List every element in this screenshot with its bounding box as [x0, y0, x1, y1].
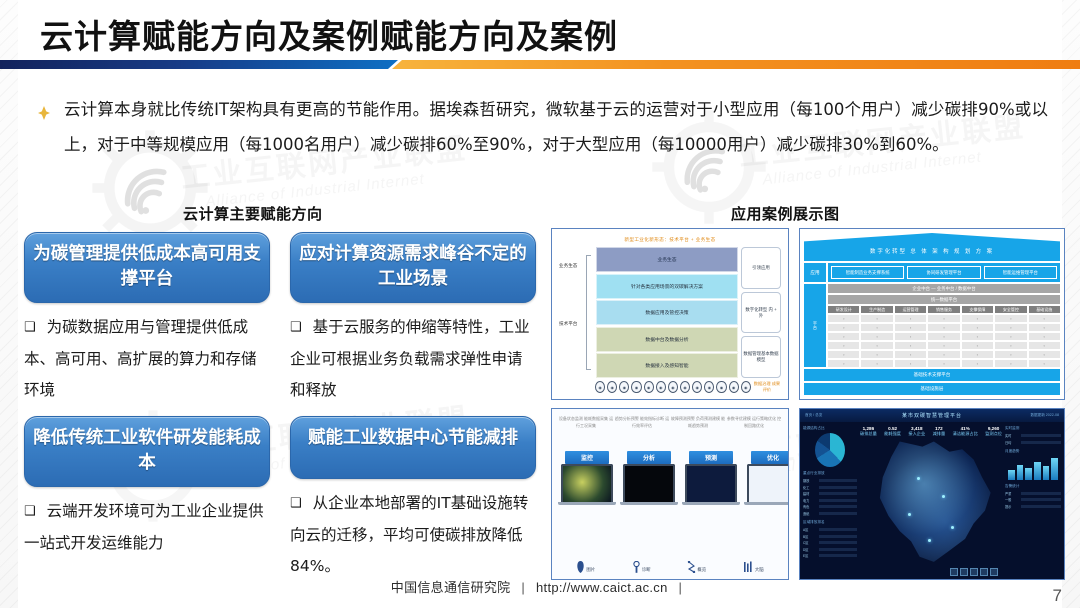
bar-label: 有色 [803, 504, 817, 509]
feature-title-box-1[interactable]: 为碳管理提供低成本高可用支撑平台 [24, 232, 270, 303]
bar-label: 严重 [1005, 491, 1019, 496]
kpi-label: 清洁能源占比 [953, 431, 978, 436]
laptop-base [558, 502, 616, 505]
kpi-item: 3,418 接入企业 [908, 426, 925, 436]
map-pin-icon [942, 495, 945, 498]
arch-node-icon: ◉ [656, 381, 666, 393]
bar-row: 实时 [1005, 433, 1061, 438]
bar-label: 提示 [1005, 504, 1019, 509]
laptop-base [682, 502, 740, 505]
laptop-note: 参数寻优建模 运行策略优化 控制回路优化 [726, 415, 782, 449]
footer-separator-1: | [521, 580, 525, 595]
bar-track [1021, 492, 1061, 495]
matrix-app: 协同研发管理平台 [907, 266, 980, 279]
bar-label: 一般 [1005, 497, 1019, 502]
matrix-core: 企业中台 — 业务中台 / 数据中台 统一数据平台 研发设计 生产制造 运营管理… [828, 284, 1060, 367]
panel-energy-mix: 能源结构占比 [803, 426, 857, 467]
map-region-shape [860, 439, 1002, 567]
laptop-screen [685, 464, 737, 502]
matrix-grid-cell: ▫ [828, 333, 859, 340]
feature-bullet-text-3: 云端开发环境可为工业企业提供一站式开发运维能力 [24, 502, 264, 552]
bar-row: 钢铁 [803, 478, 857, 483]
dashboard-tab[interactable] [960, 568, 968, 576]
dashboard-tab[interactable] [950, 568, 958, 576]
laptop-note: 趋势分析预警 能效指标诊断 运行效率评估 [614, 415, 670, 449]
dashboard-tab[interactable] [980, 568, 988, 576]
thumbnail-architecture-layers[interactable]: 新型工业化新形态：技术平台 + 业务生态 业务生态 技术平台 业务生态 针对各类… [551, 228, 789, 400]
matrix-core-row: 平台 企业中台 — 业务中台 / 数据中台 统一数据平台 研发设计 生产制造 运… [804, 284, 1060, 367]
feature-bullet-text-1: 为碳数据应用与管理提供低成本、高可用、高扩展的算力和存储环境 [24, 318, 257, 399]
map-pin-icon [917, 477, 920, 480]
square-bullet-icon-2: ❑ [290, 320, 302, 335]
laptop-base [620, 502, 678, 505]
bar-track [819, 499, 857, 502]
panel-industry-emissions: 重点行业排放 钢铁 化工 建材 电力 有色 造纸 [803, 471, 857, 516]
feature-bullet-3: ❑云端开发环境可为工业企业提供一站式开发运维能力 [24, 496, 270, 559]
kpi-item: 1,286 碳排总量 [860, 426, 877, 436]
laptop-base [744, 502, 789, 505]
laptop-note: 设备状态监测 能耗数据采集 运行工况采集 [558, 415, 614, 449]
feature-bullet-text-4: 从企业本地部署的IT基础设施转向云的迁移，平均可使碳排放降低84%。 [290, 494, 528, 575]
arch-axis-bottom: 技术平台 [559, 321, 577, 327]
arch-layer: 针对各类应用场景的双碳解决方案 [596, 274, 738, 299]
arch-layer: 数据接入及感知智能 [596, 353, 738, 378]
laptop-label: 分析 [627, 451, 671, 464]
dashboard-bottom-tabs[interactable] [950, 568, 998, 576]
arch-node-icon: ◉ [631, 381, 641, 393]
thumbnail-transformation-matrix[interactable]: 数字化转型 总 体 架 构 规 划 方 案 应用 智能制造业务支撑系统 协同研发… [799, 228, 1065, 400]
panel-region-rank: 区域排放排名 A区 B区 C区 D区 E区 [803, 520, 857, 558]
bar-track [819, 554, 857, 557]
bar-label: B区 [803, 534, 817, 539]
arch-node-icon: ◉ [595, 381, 605, 393]
case-thumbnail-grid: 新型工业化新形态：技术平台 + 业务生态 业务生态 技术平台 业务生态 针对各类… [551, 228, 1065, 580]
matrix-side-label: 平台 [804, 284, 826, 367]
intro-paragraph-block: 云计算本身就比传统IT架构具有更高的节能作用。据埃森哲研究，微软基于云的运营对于… [38, 92, 1048, 162]
bar-label: 实时 [1005, 433, 1019, 438]
dashboard-tab[interactable] [990, 568, 998, 576]
kpi-item: 172 减排量 [933, 426, 946, 436]
kpi-label: 接入企业 [908, 431, 925, 436]
arch-layer: 数据应用及管控决策 [596, 300, 738, 325]
title-underline-blue-segment [0, 60, 398, 69]
bar-track [819, 535, 857, 538]
bar-row: 提示 [1005, 504, 1061, 509]
icon-label: 大脑 [755, 567, 764, 573]
footer-url[interactable]: http://www.caict.ac.cn [536, 580, 668, 595]
panel-monthly-trend: 月度趋势 [1005, 449, 1061, 480]
laptop-item: 预测 [682, 451, 740, 505]
chart-bar [1043, 466, 1050, 479]
laptop-top-notes: 设备状态监测 能耗数据采集 运行工况采集 趋势分析预警 能效指标诊断 运行效率评… [558, 415, 782, 449]
arch-side-box: 数字化转型 内 + 外 [741, 292, 781, 334]
matrix-grid-cell: ▫ [895, 315, 926, 322]
dashboard-header: 首页 / 总览 某市双碳智慧管理平台 数据更新 2022-08 [800, 409, 1064, 422]
page-number: 7 [1053, 586, 1062, 606]
matrix-grid-cell: ▫ [1029, 324, 1060, 331]
matrix-grid-cell: ▫ [828, 342, 859, 349]
matrix-grid-cell: ▫ [1029, 315, 1060, 322]
matrix-app-row: 应用 智能制造业务支撑系统 协同研发管理平台 智能运维管理平台 [804, 263, 1060, 282]
laptop-screen [623, 464, 675, 502]
bar-track [819, 541, 857, 544]
bar-track [1021, 505, 1061, 508]
thumbnail-map-dashboard[interactable]: 首页 / 总览 某市双碳智慧管理平台 数据更新 2022-08 1,286 碳排… [799, 408, 1065, 580]
matrix-grid-header: 运营管理 [895, 306, 926, 313]
page-title: 云计算赋能方向及案例赋能方向及案例 [40, 10, 618, 58]
arch-node-icon: ◉ [668, 381, 678, 393]
bar-row: 严重 [1005, 491, 1061, 496]
arch-side-box: 数据管理基本数据模型 [741, 336, 781, 378]
feature-cell-4: 赋能工业数据中心节能减排 ❑从企业本地部署的IT基础设施转向云的迁移，平均可使碳… [290, 416, 536, 592]
matrix-grid-header: 生产制造 [861, 306, 892, 313]
matrix-grid-cell: ▫ [861, 351, 892, 358]
matrix-grid-cell: ▫ [828, 360, 859, 367]
enablement-feature-grid: 为碳管理提供低成本高可用支撑平台 ❑为碳数据应用与管理提供低成本、高可用、高扩展… [24, 232, 536, 592]
overview-icon-group: 概览 [687, 561, 706, 573]
matrix-grid-cell: ▫ [928, 351, 959, 358]
matrix-grid-cell: ▫ [861, 342, 892, 349]
kpi-item: 0.52 能耗强度 [884, 426, 901, 436]
matrix-grid-cell: ▫ [828, 324, 859, 331]
bar-track [1021, 434, 1061, 437]
icon-label: 概览 [697, 567, 706, 573]
diamond-bullet-icon [38, 106, 50, 118]
monthly-bar-chart [1005, 456, 1061, 480]
kpi-label: 监测点位 [985, 431, 1002, 436]
matrix-grid-cell: ▫ [895, 360, 926, 367]
matrix-grid-header: 研发设计 [828, 306, 859, 313]
matrix-roof: 数字化转型 总 体 架 构 规 划 方 案 [804, 233, 1060, 261]
panel-header: 区域排放排名 [803, 520, 857, 525]
panel-alarm-stats: 告警统计 严重 一般 提示 [1005, 484, 1061, 509]
matrix-grid-cell: ▫ [828, 351, 859, 358]
intro-paragraph-text: 云计算本身就比传统IT架构具有更高的节能作用。据埃森哲研究，微软基于云的运营对于… [64, 92, 1048, 162]
feature-title-box-4[interactable]: 赋能工业数据中心节能减排 [290, 416, 536, 479]
brain-icon-group: 大脑 [743, 561, 764, 573]
laptop-screen [561, 464, 613, 502]
matrix-app: 智能制造业务支撑系统 [831, 266, 904, 279]
chart-bar [1025, 468, 1032, 480]
arch-node-icon: ◉ [692, 381, 702, 393]
laptop-item: 监控 [558, 451, 616, 505]
matrix-app: 智能运维管理平台 [984, 266, 1057, 279]
chart-bar [1017, 465, 1024, 480]
arch-node-icon: ◉ [704, 381, 714, 393]
matrix-grid-cell: ▫ [928, 333, 959, 340]
bar-row: 化工 [803, 485, 857, 490]
panel-header: 实时监测 [1005, 426, 1061, 431]
arch-node-icon: ◉ [644, 381, 654, 393]
bar-track [819, 486, 857, 489]
arch-layer: 数据中台及数据分析 [596, 327, 738, 352]
matrix-grid-cell: ▫ [928, 315, 959, 322]
kpi-label: 减排量 [933, 431, 946, 436]
matrix-grid-cell: ▫ [1029, 333, 1060, 340]
square-bullet-icon-3: ❑ [24, 504, 36, 519]
arch-side-box: 引领应用 [741, 247, 781, 289]
bar-track [819, 548, 857, 551]
matrix-row-label: 应用 [804, 263, 826, 282]
bar-track [819, 528, 857, 531]
slide-canvas: 工业互联网产业联盟 Alliance of Industrial Interne… [0, 0, 1080, 608]
matrix-grid-cell: ▫ [895, 351, 926, 358]
footer-org: 中国信息通信研究院 [391, 580, 511, 595]
feature-title-box-3[interactable]: 降低传统工业软件研发能耗成本 [24, 416, 270, 487]
bar-label: E区 [803, 553, 817, 558]
bar-row: 有色 [803, 504, 857, 509]
laptop-label: 监控 [565, 451, 609, 464]
matrix-grid-cell: ▫ [828, 315, 859, 322]
bar-label: 化工 [803, 485, 817, 490]
laptop-label: 预测 [689, 451, 733, 464]
bar-label: 电力 [803, 498, 817, 503]
title-underline-bar [0, 60, 1080, 69]
dashboard-title: 某市双碳智慧管理平台 [902, 412, 962, 419]
map-pin-icon [908, 513, 911, 516]
square-bullet-icon-1: ❑ [24, 320, 36, 335]
arch-node-icon: ◉ [741, 381, 751, 393]
icon-label: 图片 [586, 567, 595, 573]
matrix-grid-cell: ▫ [895, 342, 926, 349]
bar-row: 建材 [803, 491, 857, 496]
laptop-item: 分析 [620, 451, 678, 505]
matrix-grid-cell: ▫ [995, 360, 1026, 367]
bar-row: C区 [803, 540, 857, 545]
feature-bullet-2: ❑基于云服务的伸缩等特性，工业企业可根据业务负载需求弹性申请和释放 [290, 312, 536, 406]
laptop-screen [747, 464, 789, 502]
kpi-label: 碳排总量 [860, 431, 877, 436]
matrix-grid-cell: ▫ [1029, 360, 1060, 367]
panel-header: 重点行业排放 [803, 471, 857, 476]
arch-axis-top: 业务生态 [559, 263, 577, 269]
matrix-grid-header: 销售服务 [928, 306, 959, 313]
panel-header: 告警统计 [1005, 484, 1061, 489]
map-pin-icon [928, 539, 931, 542]
bar-track [819, 492, 857, 495]
feature-cell-1: 为碳管理提供低成本高可用支撑平台 ❑为碳数据应用与管理提供低成本、高可用、高扩展… [24, 232, 270, 416]
right-section-heading: 应用案例展示图 [731, 203, 840, 224]
matrix-grid-cell: ▫ [928, 324, 959, 331]
feature-title-box-2[interactable]: 应对计算资源需求峰谷不定的工业场景 [290, 232, 536, 303]
arch-footer-icons: ◉ ◉ ◉ ◉ ◉ ◉ ◉ ◉ ◉ ◉ ◉ ◉ ◉ 数据治理 成果评价 [559, 381, 781, 393]
bar-row: E区 [803, 553, 857, 558]
bar-label: 建材 [803, 491, 817, 496]
kpi-item: 41% 清洁能源占比 [953, 426, 978, 436]
footer-separator-2: | [679, 580, 683, 595]
dashboard-header-left: 首页 / 总览 [805, 413, 822, 418]
matrix-grid-cell: ▫ [1029, 351, 1060, 358]
bar-track [819, 479, 857, 482]
matrix-grid-cell: ▫ [895, 333, 926, 340]
matrix-base-bar: 基础设施层 [804, 383, 1060, 395]
matrix-grid-header: 基础设施 [1029, 306, 1060, 313]
dashboard-left-panel: 能源结构占比 重点行业排放 钢铁 化工 建材 电力 有色 造纸 区域排放排名 A… [803, 426, 857, 575]
matrix-grid-header: 支撑保障 [962, 306, 993, 313]
icon-label: 诊断 [642, 567, 651, 573]
kpi-label: 能耗强度 [884, 431, 901, 436]
laptop-row: 监控 分析 预测 优化 [558, 451, 782, 505]
chart-bar [1051, 458, 1058, 479]
square-bullet-icon-4: ❑ [290, 496, 302, 511]
matrix-grid-cell: ▫ [861, 333, 892, 340]
panel-header: 能源结构占比 [803, 426, 857, 431]
matrix-grid-cell: ▫ [995, 315, 1026, 322]
chart-bar [1034, 462, 1041, 480]
matrix-grid-cell: ▫ [995, 333, 1026, 340]
matrix-grid-cell: ▫ [962, 342, 993, 349]
dashboard-tab[interactable] [970, 568, 978, 576]
bar-row: D区 [803, 547, 857, 552]
bar-label: D区 [803, 547, 817, 552]
feature-cell-2: 应对计算资源需求峰谷不定的工业场景 ❑基于云服务的伸缩等特性，工业企业可根据业务… [290, 232, 536, 416]
matrix-grid-cell: ▫ [962, 315, 993, 322]
bar-track [819, 512, 857, 515]
bar-row: A区 [803, 527, 857, 532]
footer: 中国信息通信研究院 | http://www.caict.ac.cn | [0, 577, 1080, 596]
dashboard-right-panel: 实时监测 实时 日均 月度趋势 告警统计 [1005, 426, 1061, 575]
arch-brace [586, 255, 591, 370]
bar-row: 造纸 [803, 511, 857, 516]
arch-axis-labels: 业务生态 技术平台 [559, 247, 593, 378]
matrix-grid-cell: ▫ [962, 333, 993, 340]
matrix-gray-bar: 企业中台 — 业务中台 / 数据中台 [828, 284, 1060, 293]
bar-row: 日均 [1005, 440, 1061, 445]
bar-label: 日均 [1005, 440, 1019, 445]
diagnose-icon-group: 诊断 [632, 561, 651, 573]
panel-header: 月度趋势 [1005, 449, 1061, 454]
matrix-roof-text: 数字化转型 总 体 架 构 规 划 方 案 [804, 247, 1060, 255]
photo-icon-group: 图片 [576, 561, 595, 573]
matrix-grid-cell: ▫ [928, 342, 959, 349]
bar-track [1021, 441, 1061, 444]
dashboard-kpi-row: 1,286 碳排总量 0.52 能耗强度 3,418 接入企业 172 减排量 … [860, 424, 1002, 438]
feature-bullet-text-2: 基于云服务的伸缩等特性，工业企业可根据业务负载需求弹性申请和释放 [290, 318, 530, 399]
arch-footer-tag: 数据治理 成果评价 [753, 381, 781, 393]
matrix-bottom-bar: 基础技术支撑平台 [804, 369, 1060, 381]
matrix-gray-bar: 统一数据平台 [828, 295, 1060, 304]
matrix-grid-cell: ▫ [962, 351, 993, 358]
arch-node-icon: ◉ [607, 381, 617, 393]
matrix-capability-grid: 研发设计 生产制造 运营管理 销售服务 支撑保障 安全管控 基础设施 ▫ ▫ ▫… [828, 306, 1060, 367]
matrix-grid-cell: ▫ [861, 324, 892, 331]
feature-bullet-1: ❑为碳数据应用与管理提供低成本、高可用、高扩展的算力和存储环境 [24, 312, 270, 406]
laptop-item: 优化 [744, 451, 789, 505]
matrix-grid-cell: ▫ [962, 360, 993, 367]
matrix-app-list: 智能制造业务支撑系统 协同研发管理平台 智能运维管理平台 [828, 263, 1060, 282]
thumbnail-laptop-capabilities[interactable]: 设备状态监测 能耗数据采集 运行工况采集 趋势分析预警 能效指标诊断 运行效率评… [551, 408, 789, 580]
panel-realtime: 实时监测 实时 日均 [1005, 426, 1061, 445]
arch-node-icon: ◉ [716, 381, 726, 393]
chart-bar [1008, 470, 1015, 480]
dashboard-map [860, 439, 1002, 567]
matrix-grid-cell: ▫ [995, 351, 1026, 358]
matrix-grid-cell: ▫ [995, 324, 1026, 331]
arch-node-icon: ◉ [619, 381, 629, 393]
laptop-icon-row: 图片 诊断 概览 大脑 [558, 557, 782, 573]
matrix-grid-cell: ▫ [928, 360, 959, 367]
bar-label: C区 [803, 540, 817, 545]
feature-bullet-4: ❑从企业本地部署的IT基础设施转向云的迁移，平均可使碳排放降低84%。 [290, 488, 536, 582]
arch-side-boxes: 引领应用 数字化转型 内 + 外 数据管理基本数据模型 [741, 247, 781, 378]
feature-cell-3: 降低传统工业软件研发能耗成本 ❑云端开发环境可为工业企业提供一站式开发运维能力 [24, 416, 270, 592]
arch-node-icon: ◉ [680, 381, 690, 393]
matrix-grid-cell: ▫ [861, 315, 892, 322]
bar-track [1021, 498, 1061, 501]
matrix-grid-cell: ▫ [861, 360, 892, 367]
map-pin-icon [951, 526, 954, 529]
bar-row: 一般 [1005, 497, 1061, 502]
laptop-label: 优化 [751, 451, 789, 464]
title-underline-orange-segment [392, 60, 1080, 69]
matrix-grid-header: 安全管控 [995, 306, 1026, 313]
matrix-grid-cell: ▫ [895, 324, 926, 331]
bar-label: 钢铁 [803, 478, 817, 483]
kpi-item: 9,260 监测点位 [985, 426, 1002, 436]
arch-node-icon: ◉ [729, 381, 739, 393]
bar-row: 电力 [803, 498, 857, 503]
dashboard-header-right: 数据更新 2022-08 [1030, 413, 1059, 418]
matrix-grid-cell: ▫ [1029, 342, 1060, 349]
arch-layer-stack: 业务生态 针对各类应用场景的双碳解决方案 数据应用及管控决策 数据中台及数据分析… [596, 247, 738, 378]
matrix-grid-cell: ▫ [962, 324, 993, 331]
matrix-grid-cell: ▫ [995, 342, 1026, 349]
laptop-note: 故障预测预警 负荷预测建模 能耗趋势预测 [670, 415, 726, 449]
bar-label: A区 [803, 527, 817, 532]
bar-label: 造纸 [803, 511, 817, 516]
left-section-heading: 云计算主要赋能方向 [183, 203, 323, 224]
bar-track [819, 505, 857, 508]
bar-row: B区 [803, 534, 857, 539]
arch-layer: 业务生态 [596, 247, 738, 272]
arch-caption: 新型工业化新形态：技术平台 + 业务生态 [559, 237, 781, 243]
donut-chart [815, 433, 845, 467]
